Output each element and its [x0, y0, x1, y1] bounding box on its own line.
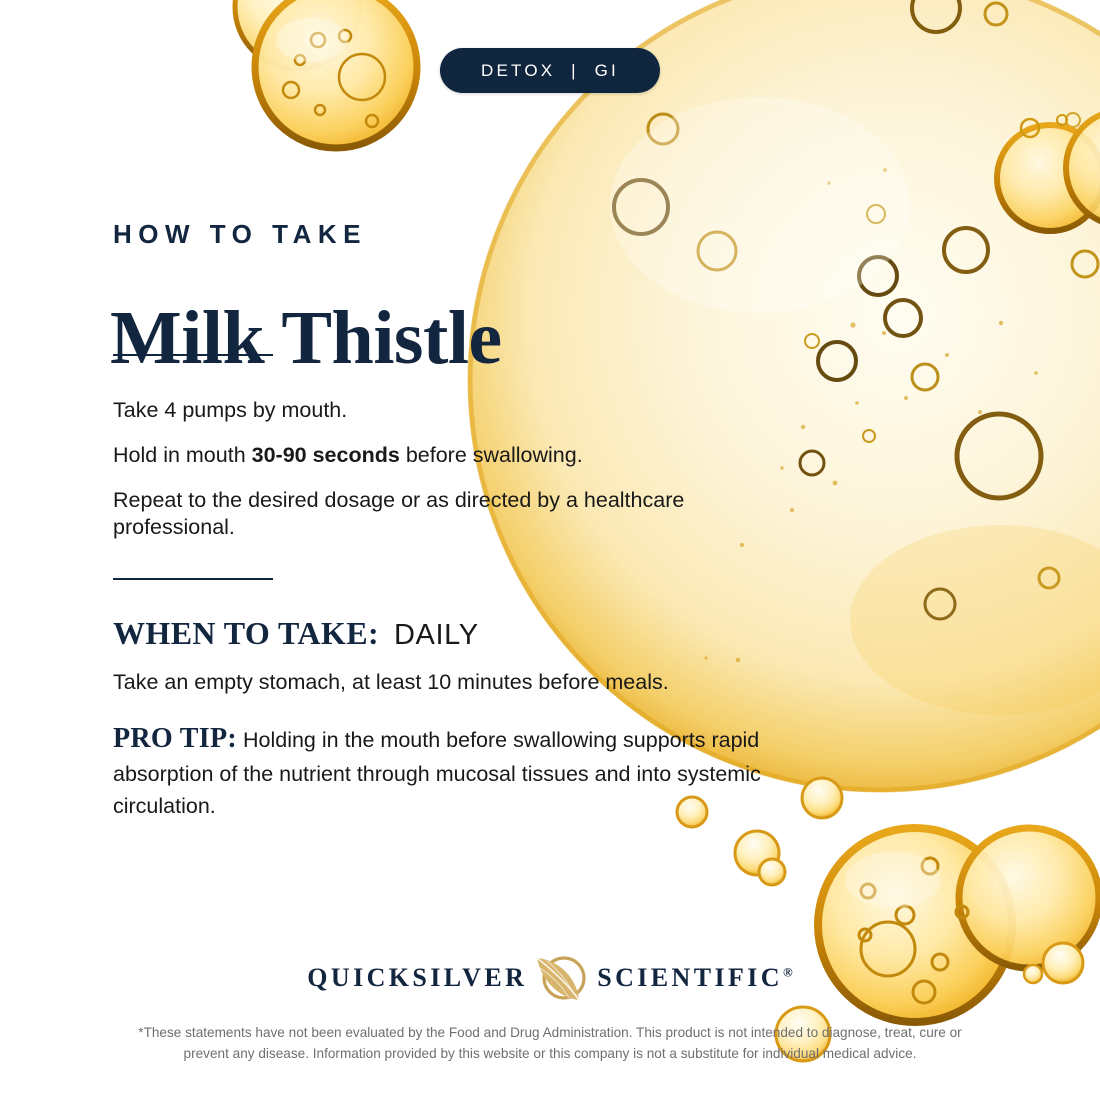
- instructions-block: Take 4 pumps by mouth. Hold in mouth 30-…: [113, 397, 793, 559]
- brand-logo: QUICKSILVER SCIENTIFIC®: [0, 952, 1100, 1004]
- brand-name-left: QUICKSILVER: [307, 965, 527, 991]
- instruction-line-2: Hold in mouth 30-90 seconds before swall…: [113, 442, 793, 468]
- brand-name-right-text: SCIENTIFIC: [597, 963, 783, 992]
- divider-top: [113, 354, 273, 356]
- instruction-line-2-emphasis: 30-90 seconds: [252, 443, 400, 467]
- when-to-take-note: Take an empty stomach, at least 10 minut…: [113, 669, 669, 695]
- when-to-take-heading: WHEN TO TAKE: DAILY: [113, 615, 479, 652]
- when-to-take-value: DAILY: [394, 619, 479, 652]
- category-badge[interactable]: DETOX | GI: [440, 48, 660, 93]
- category-badge-label: DETOX | GI: [481, 61, 619, 81]
- instruction-line-2-prefix: Hold in mouth: [113, 443, 252, 467]
- brand-name-right: SCIENTIFIC®: [597, 965, 792, 991]
- instruction-line-1: Take 4 pumps by mouth.: [113, 397, 793, 423]
- legal-disclaimer: *These statements have not been evaluate…: [130, 1022, 970, 1064]
- infographic-canvas: DETOX | GI HOW TO TAKE Milk Thistle Take…: [0, 0, 1100, 1100]
- eyebrow-heading: HOW TO TAKE: [113, 219, 367, 250]
- instruction-line-3: Repeat to the desired dosage or as direc…: [113, 487, 793, 539]
- registered-trademark-icon: ®: [783, 964, 793, 979]
- divider-bottom: [113, 578, 273, 580]
- when-to-take-label: WHEN TO TAKE:: [113, 615, 379, 652]
- leaf-circle-icon: [533, 952, 591, 1004]
- page-title: Milk Thistle: [110, 300, 502, 376]
- pro-tip-block: PRO TIP: Holding in the mouth before swa…: [113, 718, 778, 823]
- pro-tip-label: PRO TIP:: [113, 723, 237, 754]
- instruction-line-2-suffix: before swallowing.: [400, 443, 583, 467]
